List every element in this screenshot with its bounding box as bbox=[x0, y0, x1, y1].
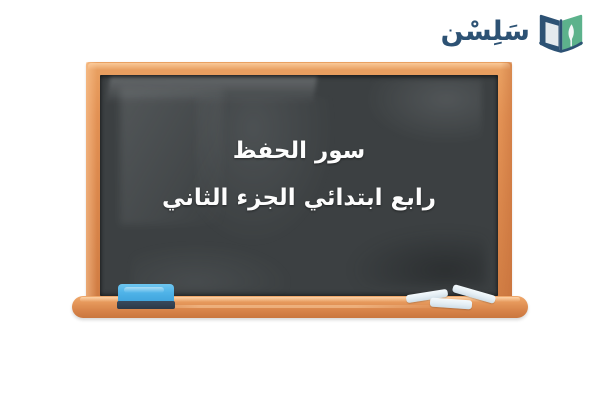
chalk-sticks-group bbox=[404, 284, 500, 312]
chalk-smudge bbox=[106, 77, 317, 104]
open-book-icon bbox=[538, 11, 584, 55]
board-eraser bbox=[117, 284, 175, 310]
chalk-smudge bbox=[351, 230, 486, 287]
chalkboard: سور الحفظ رابع ابتدائي الجزء الثاني bbox=[86, 62, 512, 310]
chalkboard-text-block: سور الحفظ رابع ابتدائي الجزء الثاني bbox=[100, 137, 498, 213]
board-title: سور الحفظ bbox=[100, 137, 498, 166]
chalk-stick bbox=[430, 298, 473, 310]
ledge-wood-grain bbox=[145, 305, 446, 308]
eraser-base bbox=[117, 301, 175, 309]
brand-logo: سَلِسْن bbox=[441, 8, 584, 58]
frame-top-highlight bbox=[88, 63, 510, 70]
brand-wordmark: سَلِسْن bbox=[441, 18, 530, 49]
eraser-highlight bbox=[124, 287, 164, 293]
chalkboard-surface: سور الحفظ رابع ابتدائي الجزء الثاني bbox=[100, 75, 498, 296]
board-subtitle: رابع ابتدائي الجزء الثاني bbox=[100, 184, 498, 213]
frame-right-shading bbox=[496, 62, 512, 310]
chalk-smudge bbox=[363, 79, 482, 145]
